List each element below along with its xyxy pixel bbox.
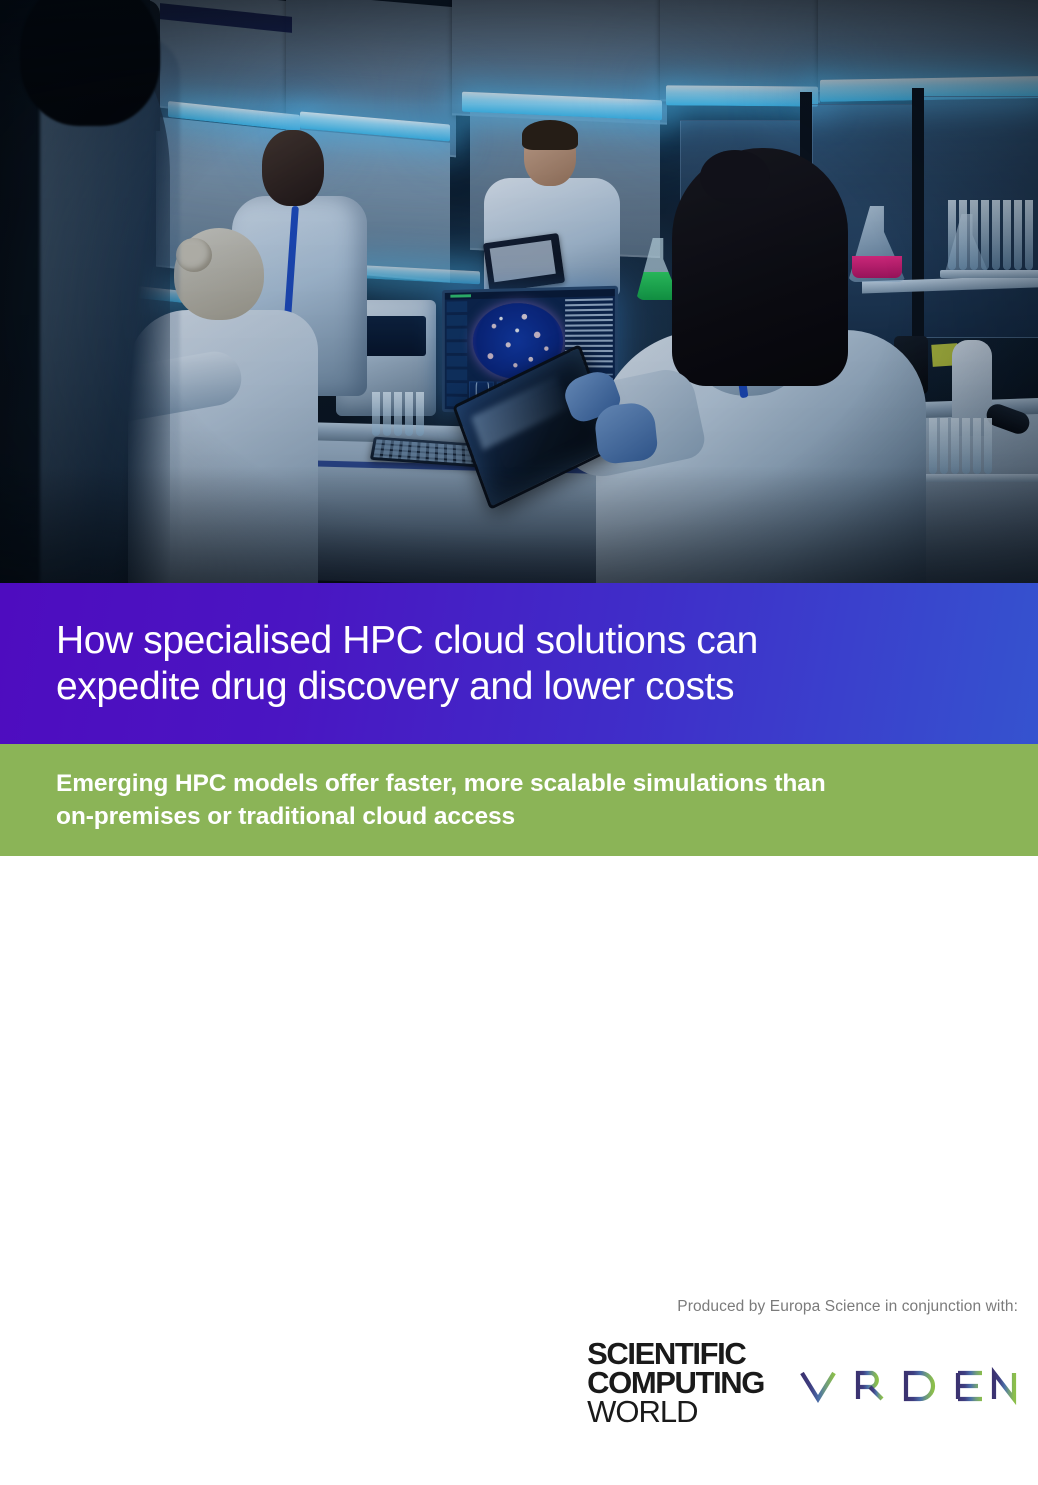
test-tube (970, 200, 978, 270)
test-tube (1014, 200, 1022, 270)
gloved-hand (593, 401, 659, 465)
scientist-hair-bun (700, 150, 770, 204)
test-tube (992, 200, 1000, 270)
test-tube (959, 200, 967, 270)
test-tube (973, 418, 981, 474)
hero-photo (0, 0, 1038, 583)
test-tube (940, 418, 948, 474)
scientist-hair-bun (176, 238, 212, 272)
test-tube (383, 392, 391, 436)
test-tube (929, 418, 937, 474)
subtitle-band: Emerging HPC models offer faster, more s… (0, 744, 1038, 856)
title-band: How specialised HPC cloud solutions can … (0, 583, 1038, 744)
test-tube (372, 392, 380, 436)
page-subtitle-line-2: on-premises or traditional cloud access (56, 803, 515, 830)
test-tube (394, 392, 402, 436)
test-tube (405, 392, 413, 436)
monitor-side-panel (447, 301, 468, 406)
test-tube (962, 418, 970, 474)
scientist-head (262, 130, 324, 206)
scw-logo-line-2: COMPUTING (587, 1369, 764, 1398)
scientific-computing-world-logo: SCIENTIFIC COMPUTING WORLD (587, 1340, 764, 1426)
page-title: How specialised HPC cloud solutions can … (56, 618, 758, 710)
test-tube (984, 418, 992, 474)
led-light-panel (666, 85, 818, 106)
clipboard-icon (483, 233, 565, 293)
test-tube-rack-icon (372, 392, 424, 436)
test-tube (1003, 200, 1011, 270)
credit-line: Produced by Europa Science in conjunctio… (677, 1298, 1018, 1316)
page-subtitle-line-1: Emerging HPC models offer faster, more s… (56, 770, 826, 797)
flask-reagent (852, 256, 902, 278)
document-cover-page: How specialised HPC cloud solutions can … (0, 0, 1038, 1485)
test-tube (981, 200, 989, 270)
logo-row: SCIENTIFIC COMPUTING WORLD (587, 1340, 1020, 1426)
scientist-hair (522, 120, 578, 150)
test-tube (951, 418, 959, 474)
test-tube (948, 200, 956, 270)
window-mullion (912, 88, 924, 368)
scw-logo-line-3: WORLD (587, 1398, 764, 1427)
footer: Produced by Europa Science in conjunctio… (0, 1270, 1038, 1460)
test-tube-rack-icon (948, 200, 1033, 270)
page-title-line-2: expedite drug discovery and lower costs (56, 665, 734, 708)
page-subtitle: Emerging HPC models offer faster, more s… (56, 767, 826, 833)
test-tube (416, 392, 424, 436)
test-tube (1025, 200, 1033, 270)
page-title-line-1: How specialised HPC cloud solutions can (56, 619, 758, 662)
viridien-logo (798, 1359, 1020, 1407)
rack-shelf (940, 270, 1038, 278)
scientist-head (20, 0, 160, 126)
